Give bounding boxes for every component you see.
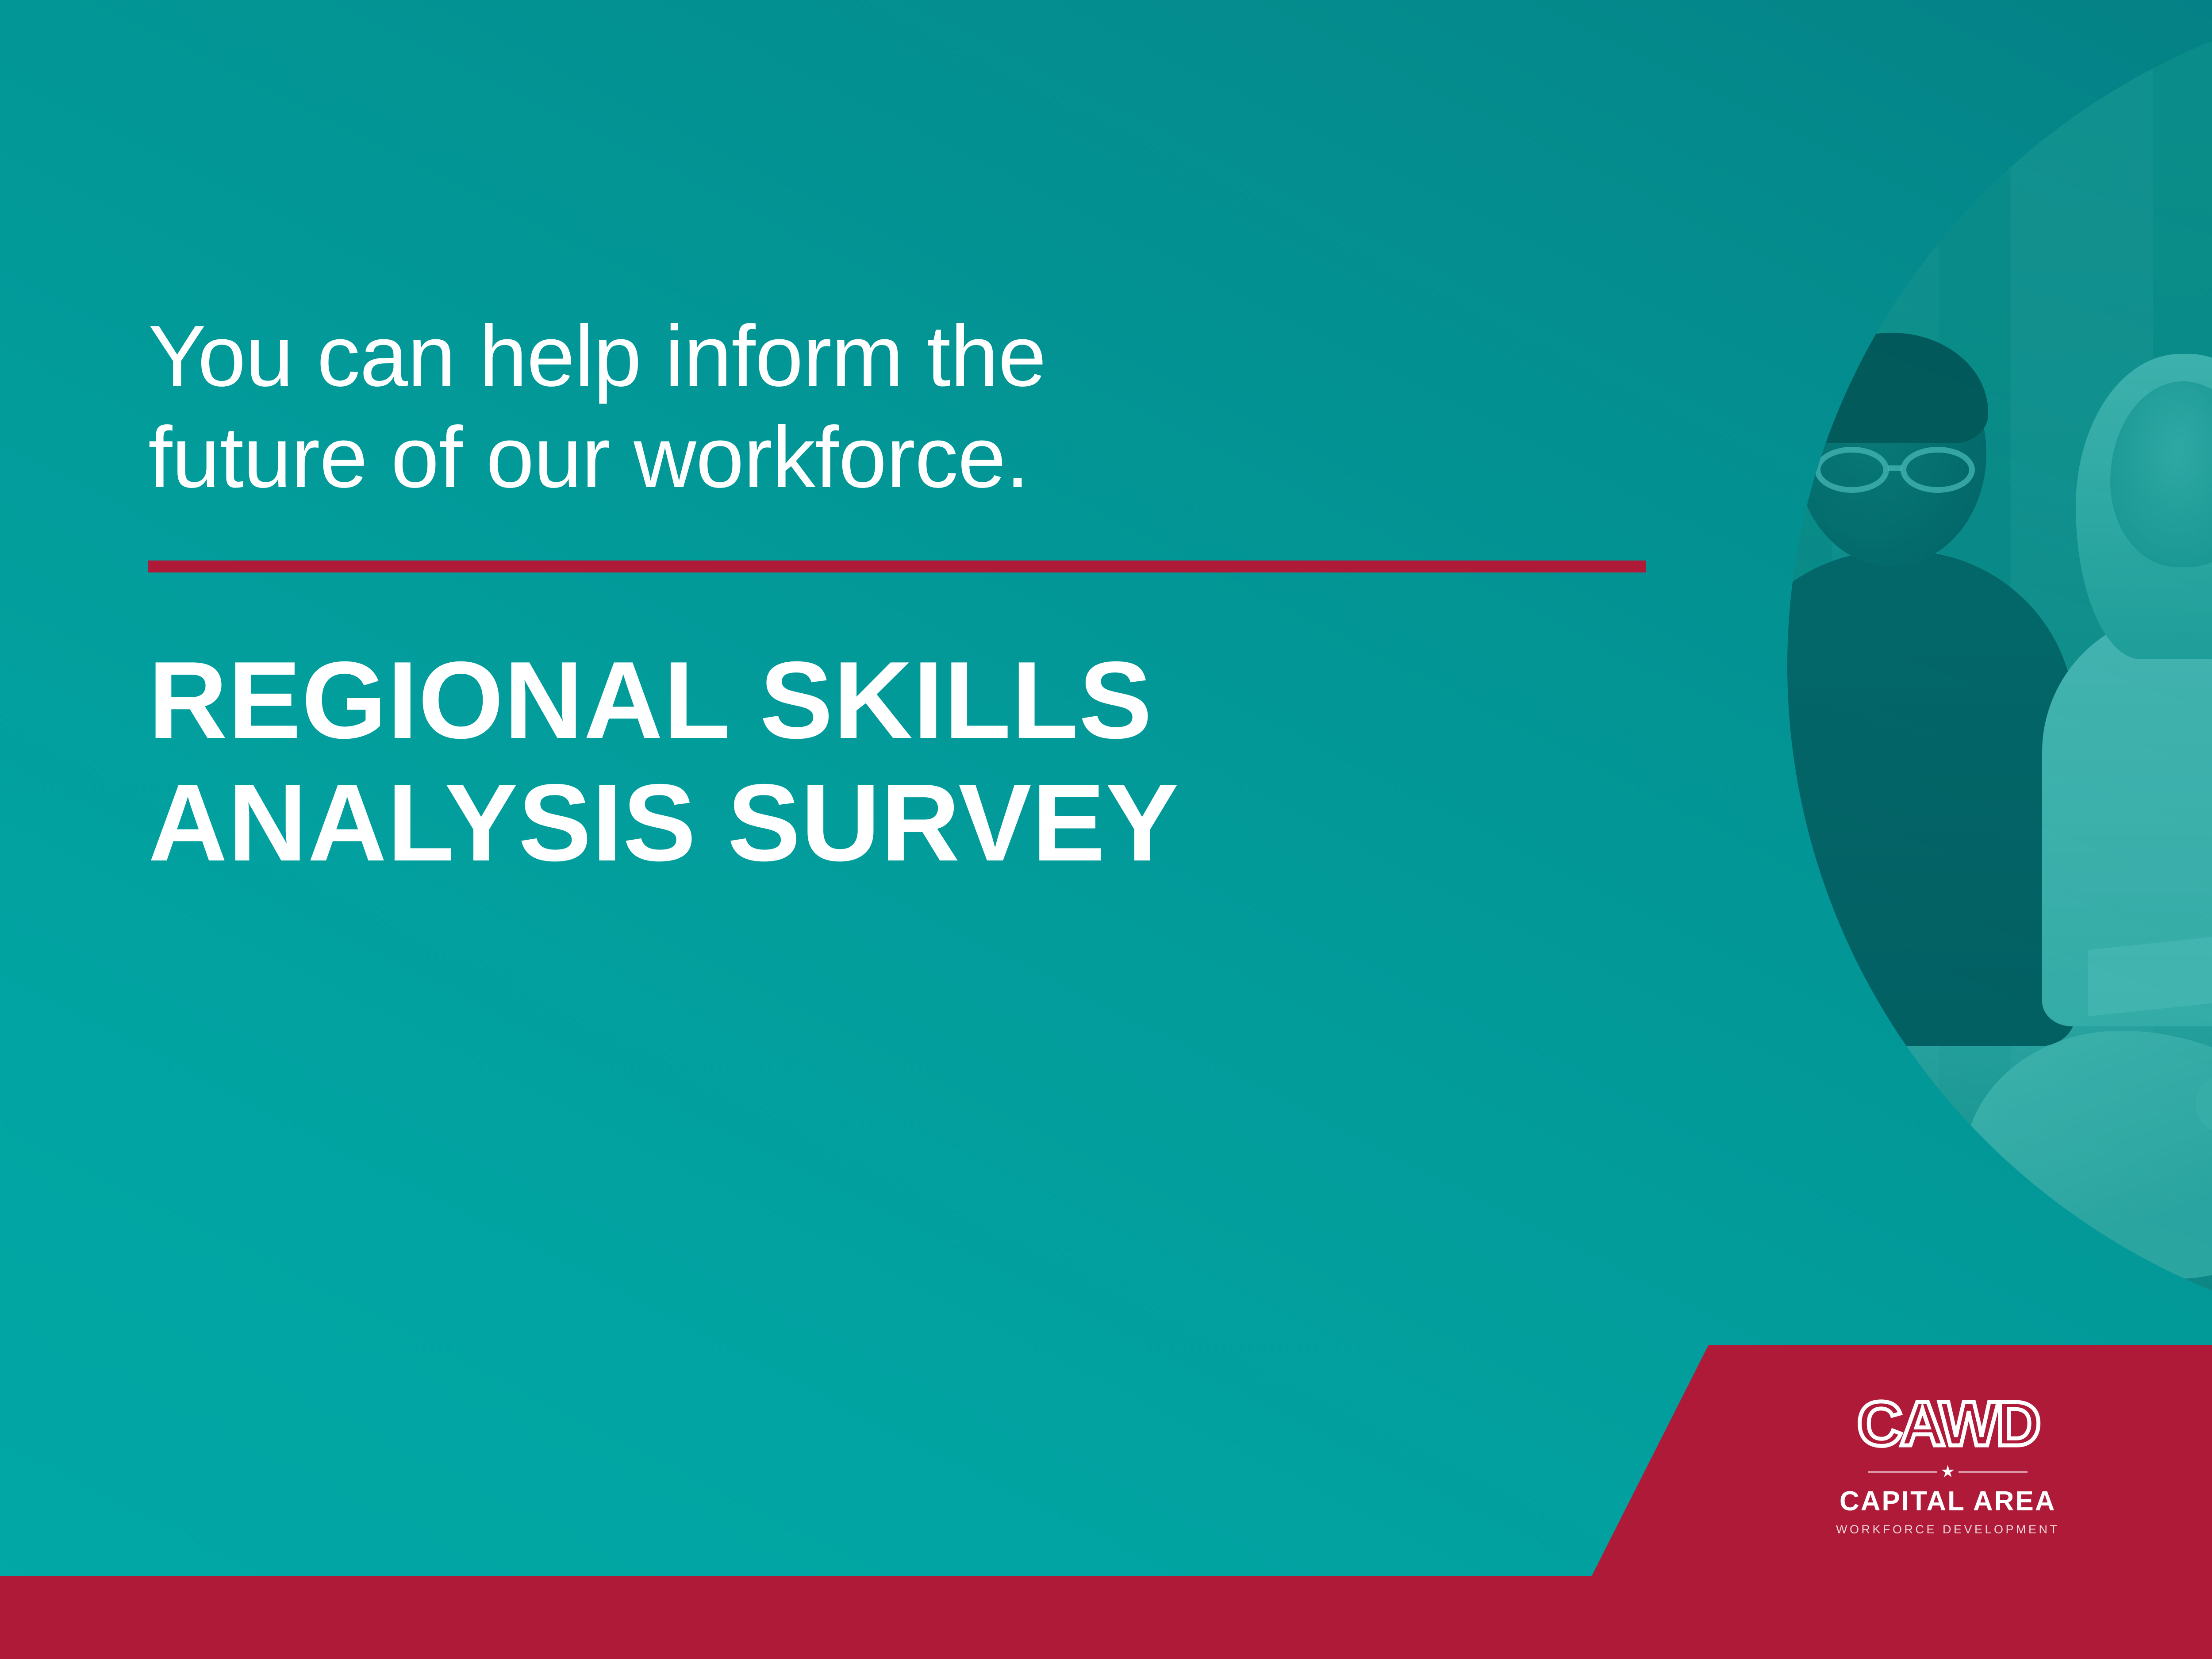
page-title: REGIONAL SKILLS ANALYSIS SURVEY bbox=[148, 639, 1646, 885]
red-divider-rule bbox=[148, 561, 1646, 572]
hero-photo bbox=[1761, 0, 2212, 1349]
photo-duotone-image bbox=[1761, 0, 2212, 1349]
cawd-subtitle: WORKFORCE DEVELOPMENT bbox=[1836, 1523, 2060, 1536]
cawd-monogram: CAWD bbox=[1857, 1393, 2039, 1455]
teal-tint-overlay bbox=[1761, 0, 2212, 1349]
star-icon bbox=[1941, 1465, 1955, 1479]
bottom-red-bar bbox=[0, 1576, 2212, 1659]
subheading-text: You can help inform the future of our wo… bbox=[148, 305, 1646, 508]
cawd-name: CAPITAL AREA bbox=[1839, 1486, 2056, 1517]
cawd-divider bbox=[1868, 1465, 2028, 1479]
headline-block: You can help inform the future of our wo… bbox=[148, 305, 1646, 884]
promotional-graphic: TRIANGLE TALENT A Regional Skills Assess… bbox=[0, 0, 2212, 1659]
logo-capital-area-workforce-development[interactable]: CAWD CAPITAL AREA WORKFORCE DEVELOPMENT bbox=[1836, 1393, 2060, 1536]
partner-logo-row: CAWD CAPITAL AREA WORKFORCE DEVELOPMENT … bbox=[1836, 1367, 2212, 1562]
